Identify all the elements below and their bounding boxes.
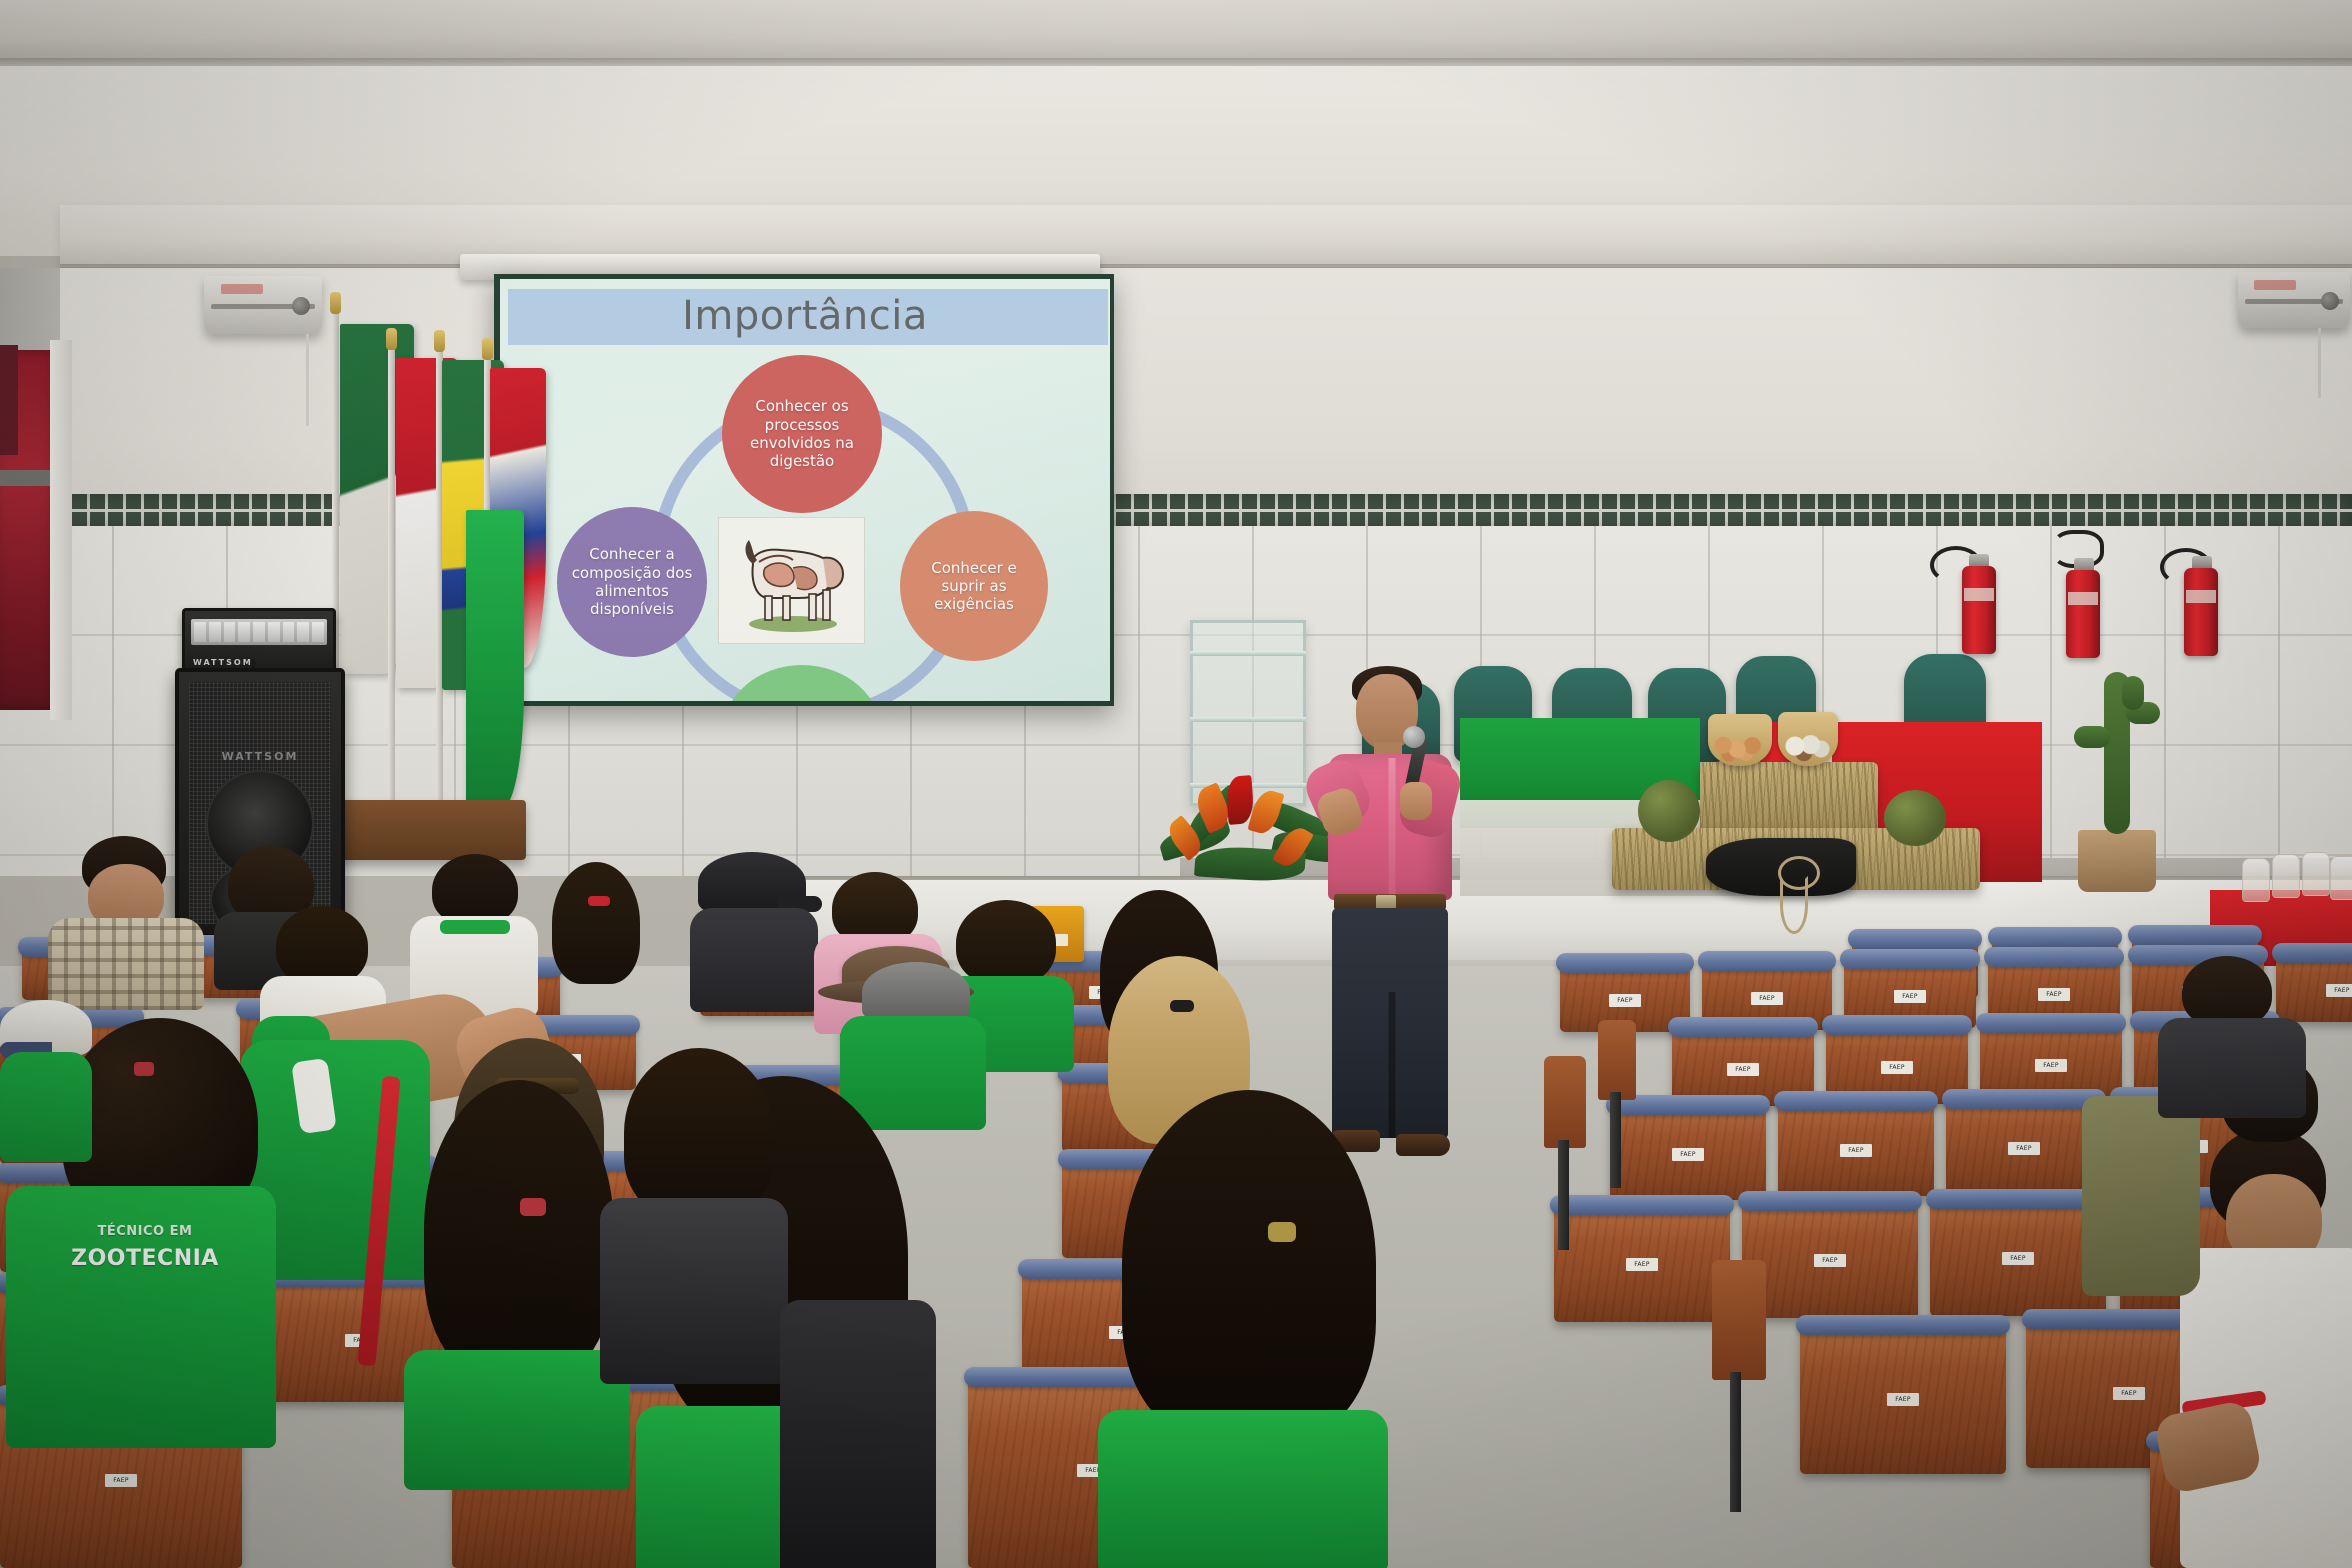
left-door-edge [0,345,18,455]
seat-r4c2[interactable]: FAEP [1778,1100,1934,1196]
flag-stand-base [326,800,526,860]
armrest-post-right-2 [1610,1092,1621,1188]
person-collar [440,920,510,934]
seat-r4c3[interactable]: FAEP [1946,1098,2102,1194]
person-torso [2158,1018,2306,1118]
seat-r5c1[interactable]: FAEP [1554,1204,1730,1322]
shrub-right [1884,790,1946,846]
red-panel-frame [50,340,72,720]
hair-clip [1268,1222,1296,1242]
audience-person-back-ponytail [540,862,652,1012]
lasso-rope-strap [1780,876,1808,934]
person-hair [624,1048,774,1218]
mixer-amplifier[interactable]: WATTSOM [182,608,336,676]
flag-finial-4 [482,338,493,360]
cactus-arm-left [2074,726,2110,748]
hair-tie [588,896,610,906]
person-hair [276,906,368,986]
person-torso [48,918,204,1010]
person-hair [552,862,640,984]
flag-pole-2 [388,346,395,816]
person-torso [690,908,818,1012]
seat-r4c1[interactable]: FAEP [1610,1104,1766,1200]
presenter-speaker [1304,662,1480,1162]
flag-5-green [466,510,524,810]
audience-person-white-tee-1 [410,854,540,1014]
slide-bubble-composition: Conhecer a composição dos alimentos disp… [557,507,707,657]
slide-bubble-processes: Conhecer os processos envolvidos na dige… [722,355,882,513]
person-hair [424,1080,614,1380]
person-hair [1122,1090,1376,1440]
audience-person-long-hair-right [1092,1090,1392,1568]
audience-person-right-dark [2158,956,2308,1116]
party-favor-4 [2330,856,2352,900]
basket-eggs-brown [1708,714,1772,766]
slide-bubble-requirements: Conhecer e suprir as exigências [900,511,1048,661]
presenter-right-hand [1400,782,1432,820]
party-favor-2 [2272,854,2300,898]
shrub-left [1638,780,1700,842]
ac-cable-right [2318,328,2321,398]
slide-bubble-top-label: Conhecer os processos envolvidos na dige… [730,397,874,470]
person-torso [404,1350,630,1490]
ceiling [0,0,2352,62]
cactus-arm-upper [2122,676,2144,710]
presenter-shirt-placket [1389,758,1396,894]
armrest-right-3 [1712,1260,1766,1380]
seat-r5c3[interactable]: FAEP [1930,1198,2106,1316]
hair-clip [520,1198,546,1216]
seat-r5c2[interactable]: FAEP [1742,1200,1918,1318]
plant-pot [2078,830,2156,892]
hair-tie [1170,1000,1194,1012]
armrest-post-right-1 [1558,1140,1569,1250]
basket-eggs-white [1778,712,1838,766]
person-torso [600,1198,788,1384]
person-torso [780,1300,936,1568]
ac-cable-left [306,334,309,426]
ceiling-beam [60,205,2352,267]
amp-control-panel[interactable] [191,619,327,645]
audience-person-cap-dark [690,852,822,1012]
flag-finial-3 [434,330,445,352]
speaker-brand-label: WATTSOM [179,750,341,763]
slide-title: Importância [500,293,1110,339]
trucker-cap [862,962,970,1022]
party-favor-1 [2242,858,2270,902]
fire-extinguisher-1 [1962,566,1996,654]
slide-bubble-left-label: Conhecer a composição dos alimentos disp… [565,545,699,618]
armrest-right-2 [1598,1020,1636,1100]
audience-person-white-cap [0,1000,96,1160]
audience-person-aisle [780,1300,940,1568]
fire-extinguisher-2 [2066,570,2100,658]
presentation-slide: Importância Conhecer os processos envolv… [500,279,1110,701]
amp-brand-label: WATTSOM [193,658,253,667]
flag-finial-1 [330,292,341,314]
air-conditioner-right [2238,272,2350,328]
party-favor-3 [2302,852,2330,896]
flag-finial-2 [386,328,397,350]
air-conditioner-left [204,276,322,334]
microphone-icon[interactable] [1403,726,1425,748]
bag-strap [357,1076,400,1366]
cabinet-shelf-1 [1190,651,1306,656]
fire-extinguisher-3 [2184,568,2218,656]
cabinet-shelf-2 [1190,717,1306,722]
person-torso [1098,1410,1388,1568]
auditorium-scene: Importância Conhecer os processos envolv… [0,0,2352,1568]
seat-r6c1[interactable]: FAEP [1800,1324,2006,1474]
audience-person-right-olive-jacket [2082,1096,2200,1296]
armrest-right-1 [1544,1056,1586,1148]
armrest-post-right-3 [1730,1372,1741,1512]
cow-anatomy-icon [731,528,853,636]
audience-person-dark-polo [600,1048,790,1378]
slide-bubble-right-label: Conhecer e suprir as exigências [908,559,1040,614]
person-torso [0,1052,92,1162]
flag-stand [318,300,538,860]
hair-clip [134,1062,154,1076]
hay-bale-upper [1700,762,1878,834]
presenter-right-shoe [1396,1134,1450,1156]
presenter-belt-buckle [1376,895,1396,909]
audience-person-plaid [48,836,208,1006]
slide-cow-image-frame [718,517,865,644]
